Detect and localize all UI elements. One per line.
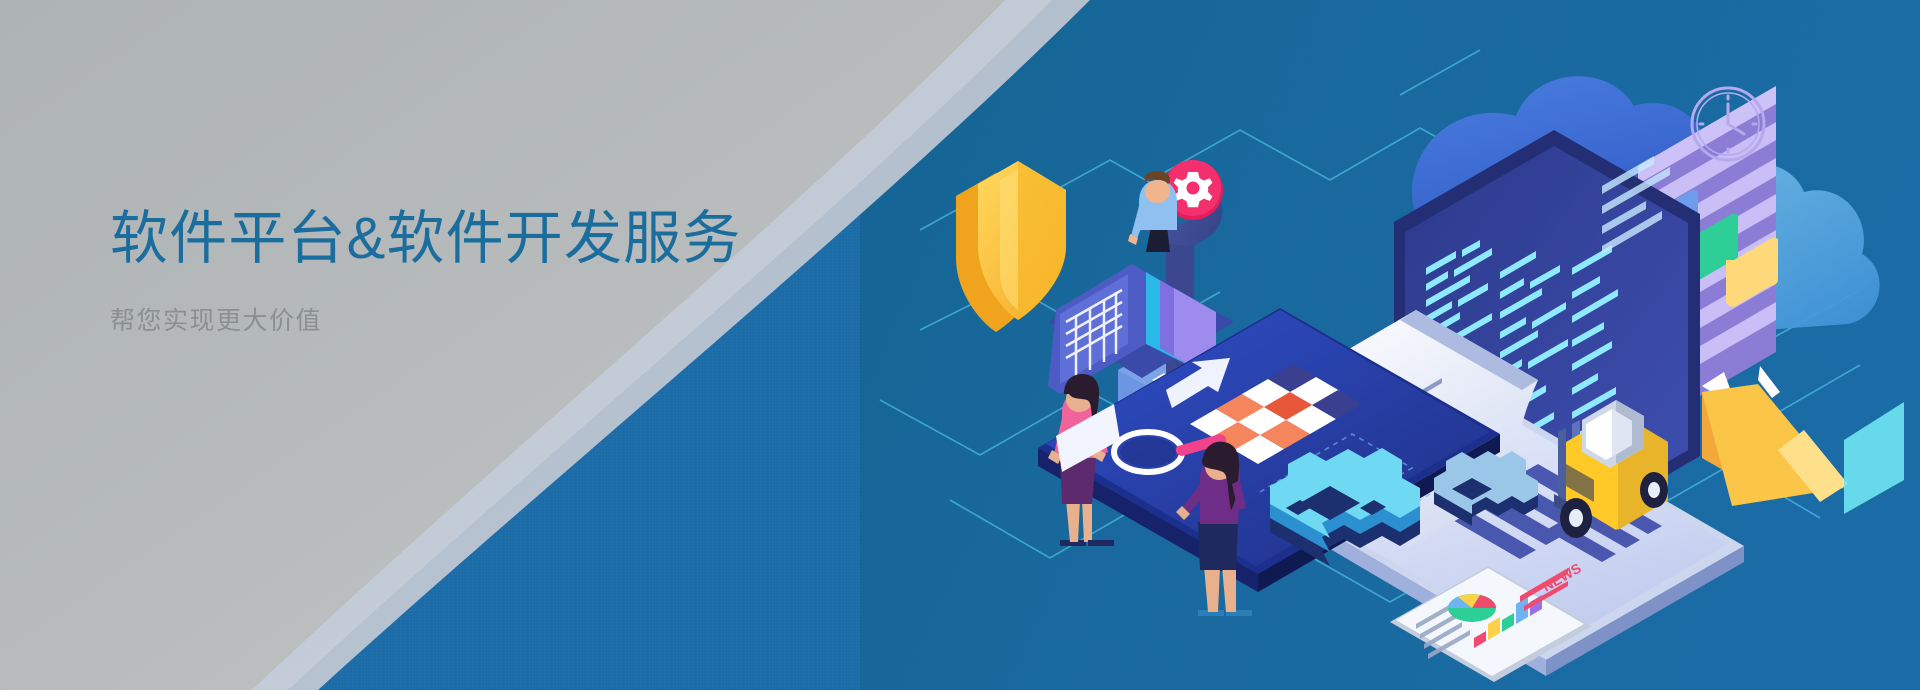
banner-text-block: 软件平台&软件开发服务 帮您实现更大价值: [110, 208, 830, 337]
mountain-chart-icon: [1702, 366, 1904, 514]
page-title: 软件平台&软件开发服务: [110, 208, 830, 271]
hero-illustration: NEWS: [860, 0, 1920, 690]
hero-banner: 软件平台&软件开发服务 帮您实现更大价值: [0, 0, 1920, 690]
shield-icon: [956, 161, 1066, 332]
clock-icon: [1692, 88, 1764, 160]
page-subtitle: 帮您实现更大价值: [110, 301, 830, 337]
news-pie-chart: [1448, 594, 1496, 622]
